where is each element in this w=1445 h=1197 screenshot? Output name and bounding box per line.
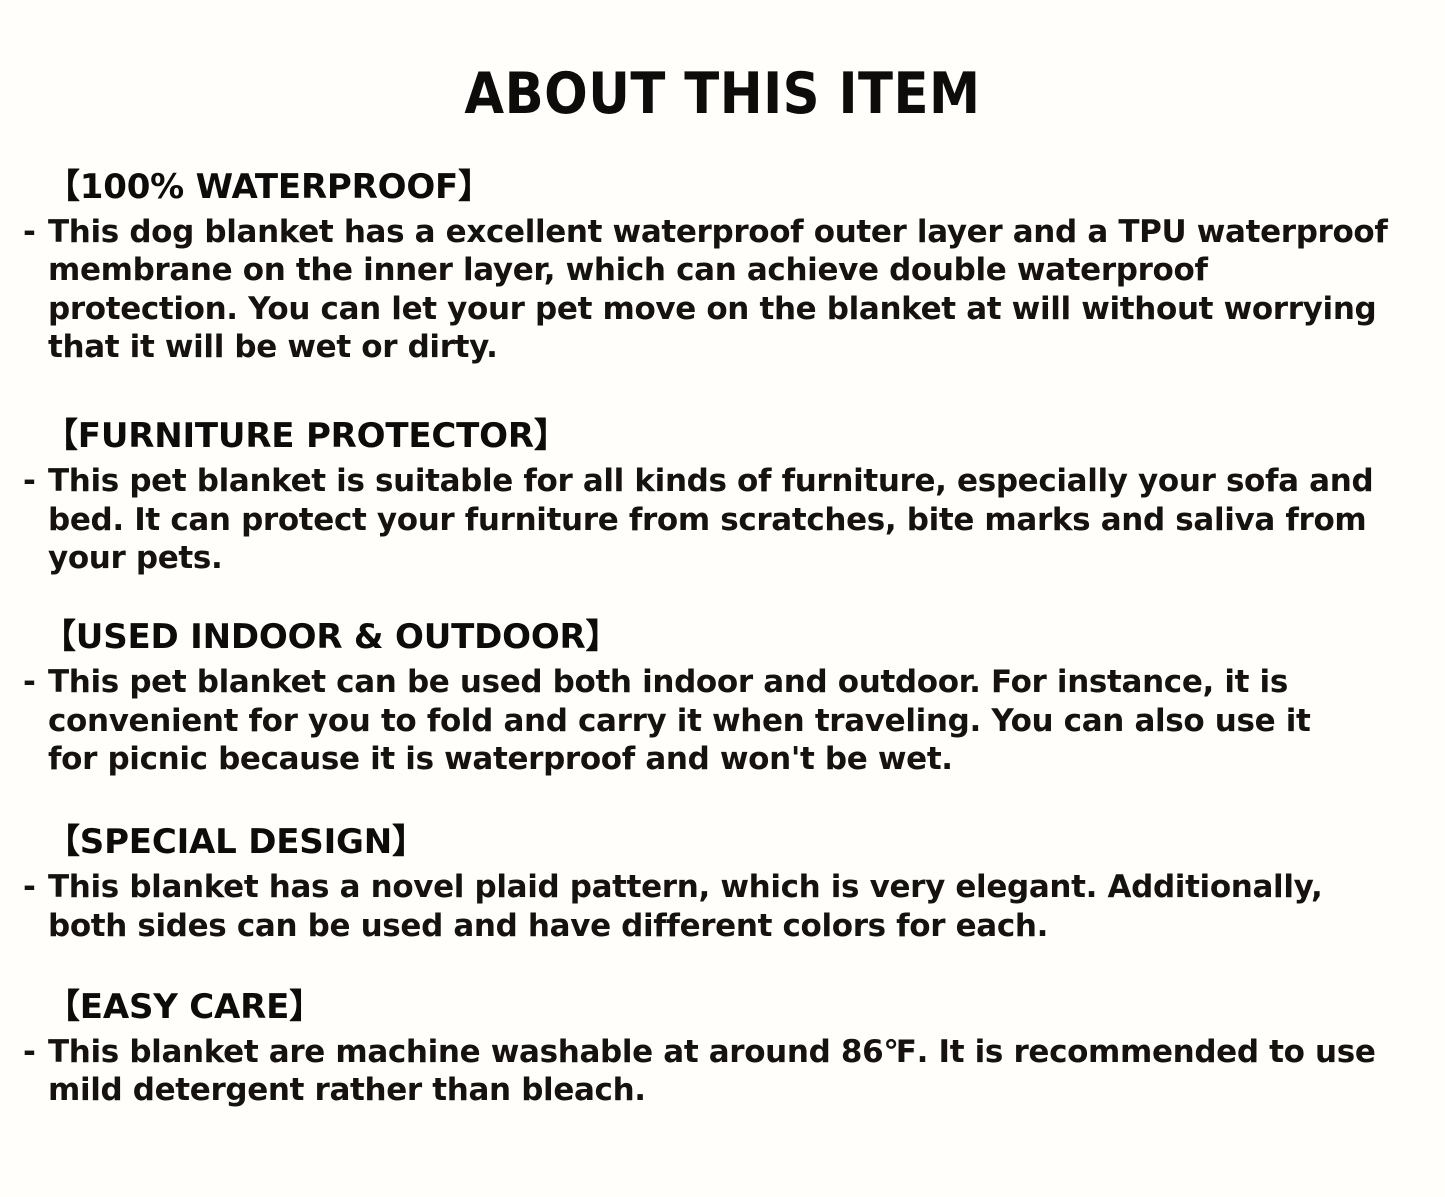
feature-section-special-design: 【SPECIAL DESIGN】 - This blanket has a no… bbox=[22, 822, 1423, 945]
about-this-item-page: ABOUT THIS ITEM 【100% WATERPROOF】 - This… bbox=[0, 0, 1445, 1197]
section-body-easy-care: - This blanket are machine washable at a… bbox=[22, 1033, 1423, 1110]
feature-section-list: 【100% WATERPROOF】 - This dog blanket has… bbox=[22, 167, 1423, 1109]
bullet-dash-icon: - bbox=[22, 868, 48, 906]
section-heading-waterproof: 【100% WATERPROOF】 bbox=[22, 167, 1423, 207]
section-text-furniture-protector: This pet blanket is suitable for all kin… bbox=[48, 462, 1423, 577]
section-spacer bbox=[22, 591, 1423, 617]
section-body-special-design: - This blanket has a novel plaid pattern… bbox=[22, 868, 1423, 945]
section-heading-special-design: 【SPECIAL DESIGN】 bbox=[22, 822, 1423, 862]
page-title: ABOUT THIS ITEM bbox=[22, 0, 1423, 123]
feature-section-easy-care: 【EASY CARE】 - This blanket are machine w… bbox=[22, 987, 1423, 1110]
section-text-special-design: This blanket has a novel plaid pattern, … bbox=[48, 868, 1423, 945]
section-heading-indoor-outdoor: 【USED INDOOR & OUTDOOR】 bbox=[22, 617, 1423, 657]
feature-section-indoor-outdoor: 【USED INDOOR & OUTDOOR】 - This pet blank… bbox=[22, 617, 1423, 778]
section-spacer bbox=[22, 794, 1423, 822]
section-spacer bbox=[22, 961, 1423, 987]
bullet-dash-icon: - bbox=[22, 213, 48, 251]
section-heading-furniture-protector: 【FURNITURE PROTECTOR】 bbox=[22, 416, 1423, 456]
section-text-waterproof: This dog blanket has a excellent waterpr… bbox=[48, 213, 1423, 366]
section-heading-easy-care: 【EASY CARE】 bbox=[22, 987, 1423, 1027]
section-text-easy-care: This blanket are machine washable at aro… bbox=[48, 1033, 1402, 1110]
section-body-furniture-protector: - This pet blanket is suitable for all k… bbox=[22, 462, 1423, 577]
section-text-indoor-outdoor: This pet blanket can be used both indoor… bbox=[48, 663, 1390, 778]
section-body-waterproof: - This dog blanket has a excellent water… bbox=[22, 213, 1423, 366]
bullet-dash-icon: - bbox=[22, 1033, 48, 1071]
section-body-indoor-outdoor: - This pet blanket can be used both indo… bbox=[22, 663, 1423, 778]
bullet-dash-icon: - bbox=[22, 663, 48, 701]
bullet-dash-icon: - bbox=[22, 462, 48, 500]
section-spacer bbox=[22, 384, 1423, 416]
feature-section-waterproof: 【100% WATERPROOF】 - This dog blanket has… bbox=[22, 167, 1423, 366]
feature-section-furniture-protector: 【FURNITURE PROTECTOR】 - This pet blanket… bbox=[22, 416, 1423, 577]
